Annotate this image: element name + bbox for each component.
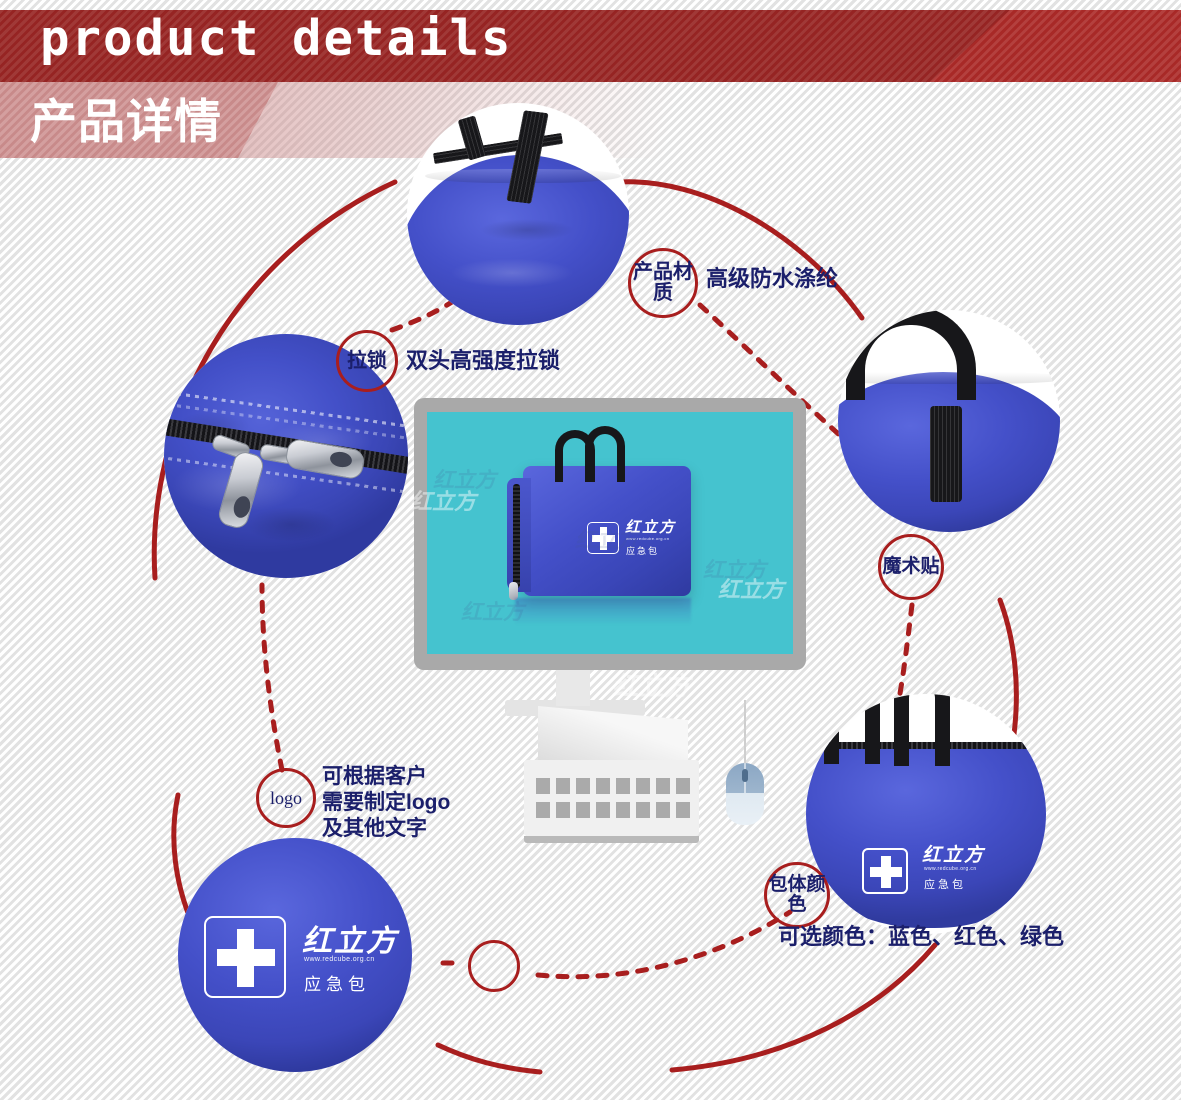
mouse [726, 763, 764, 825]
callout-tag-zipper[interactable]: 拉锁 [336, 330, 398, 392]
callout-text-material: 高级防水涤纶 [706, 266, 838, 293]
detail-photo-velcro [838, 310, 1060, 532]
carry-handle [846, 310, 976, 400]
monitor-neck [556, 670, 590, 706]
keyboard-key [676, 778, 690, 794]
detail-photo-color: 红立方 www.redcube.org.cn 应急包 [806, 694, 1046, 934]
keyboard-key [556, 778, 570, 794]
page-title-chinese: 产品详情 [30, 92, 222, 152]
keyboard-key [616, 778, 630, 794]
product-zipper [513, 484, 520, 588]
detail-photo-logo: 红立方 www.redcube.org.cn 应急包 [178, 838, 412, 1072]
cross-horizontal [217, 949, 275, 966]
callout-tag-color[interactable]: 包体颜色 [764, 862, 830, 928]
keyboard-key [676, 802, 690, 818]
cross-logo-box [587, 522, 619, 554]
detail-photo-material [407, 103, 629, 325]
velcro-strap [930, 406, 962, 502]
keyboard [524, 760, 699, 836]
brand-url: www.redcube.org.cn [304, 956, 375, 963]
brand-url: www.redcube.org.cn [626, 536, 669, 541]
carry-handle-right [894, 694, 950, 766]
brand-subtitle: 应急包 [924, 876, 966, 892]
callout-tag-label: 包体颜色 [767, 875, 827, 915]
keyboard-key [636, 778, 650, 794]
keyboard-key [656, 802, 670, 818]
mouse-scroll-wheel [742, 769, 748, 782]
keyboard-key [656, 778, 670, 794]
bag-body-fabric [806, 742, 1046, 928]
callout-tag-label: 产品材质 [631, 262, 695, 304]
callout-text-logo-line3: 及其他文字 [322, 816, 427, 842]
keyboard-front-lip [524, 836, 699, 843]
keyboard-key [636, 802, 650, 818]
brand-name: 红立方 [922, 840, 985, 867]
keyboard-key [576, 778, 590, 794]
keyboard-key [536, 778, 550, 794]
product-handle-right [585, 426, 625, 482]
keyboard-key [596, 778, 610, 794]
brand-subtitle: 应急包 [626, 544, 659, 557]
callout-tag-velcro[interactable]: 魔术贴 [878, 534, 944, 600]
fabric-fold-highlight [427, 253, 597, 293]
cross-horizontal [592, 535, 615, 542]
watermark: 红立方 [703, 554, 766, 584]
callout-text-logo-line2: 需要制定logo [322, 790, 450, 816]
callout-tag-label: 拉锁 [347, 351, 387, 372]
brand-name: 红立方 [302, 916, 398, 960]
callout-tag-logo[interactable]: logo [256, 768, 316, 828]
keyboard-key [576, 802, 590, 818]
fabric-fold-shadow [462, 215, 592, 245]
callout-tag-label: 魔术贴 [882, 557, 939, 577]
page-title-english: product details [40, 14, 513, 63]
callout-text-color: 可选颜色：蓝色、红色、绿色 [778, 924, 1064, 951]
keyboard-key [536, 802, 550, 818]
keyboard-key [556, 802, 570, 818]
carry-handle-left [824, 694, 880, 764]
monitor: 红立方 www.redcube.org.cn 应急包 红立方 红立方 红立方 红… [414, 398, 806, 670]
decorative-circle [468, 940, 520, 992]
keyboard-key [596, 802, 610, 818]
cross-logo-box [862, 848, 908, 894]
callout-text-logo-line1: 可根据客户 [322, 764, 427, 790]
callout-text-zipper: 双头高强度拉锁 [406, 348, 560, 375]
keyboard-key [616, 802, 630, 818]
brand-subtitle: 应急包 [304, 970, 370, 995]
callout-tag-material[interactable]: 产品材质 [628, 248, 698, 318]
monitor-screen: 红立方 www.redcube.org.cn 应急包 红立方 红立方 红立方 红… [427, 412, 793, 654]
brand-name: 红立方 [625, 516, 676, 537]
watermark: 红立方 [433, 464, 496, 494]
cross-horizontal [870, 867, 902, 877]
brand-url: www.redcube.org.cn [924, 866, 977, 872]
callout-tag-label: logo [270, 789, 302, 808]
product-reflection [515, 598, 691, 630]
mouse-cord [744, 700, 746, 764]
cross-logo-box [204, 916, 286, 998]
